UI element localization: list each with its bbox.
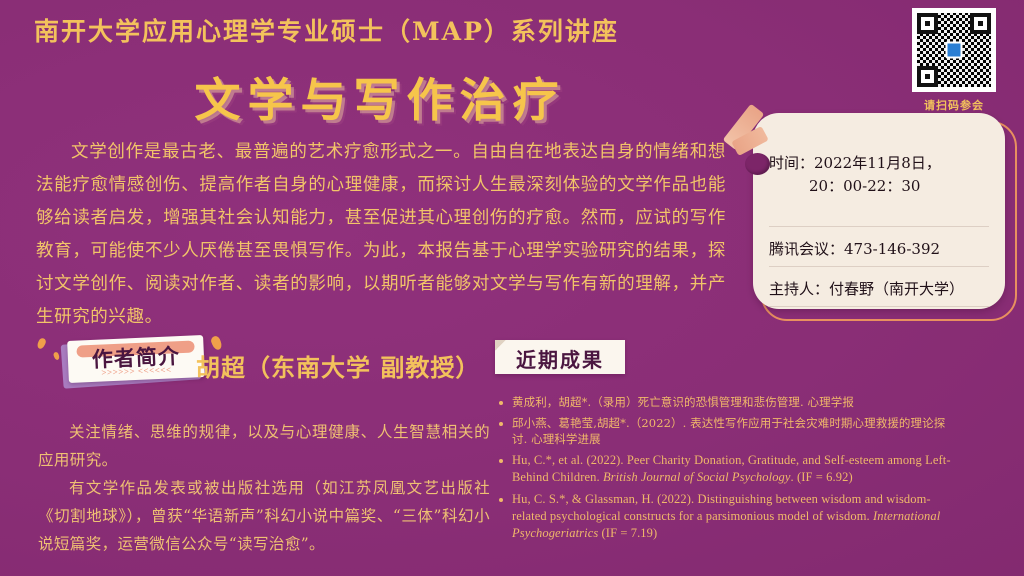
poster-canvas: 南开大学应用心理学专业硕士（MAP）系列讲座 文学与写作治疗 请扫码参会 文学创…: [0, 0, 1024, 576]
qr-finder-top-left-icon: [917, 13, 938, 34]
author-badge: 作者简介 >>>>>> <<<<<<: [67, 335, 205, 383]
results-badge-label: 近期成果: [495, 344, 625, 373]
author-bio: 关注情绪、思维的规律，以及与心理健康、人生智慧相关的应用研究。 有文学作品发表或…: [38, 418, 490, 558]
publication-item: Hu, C.*, et al. (2022). Peer Charity Don…: [498, 452, 958, 486]
info-card: 时间：2022年11月8日， 20：00-22：30 腾讯会议：473-146-…: [753, 113, 1005, 309]
qr-center-logo-icon: [946, 42, 963, 59]
info-row-meeting: 腾讯会议：473-146-392: [769, 238, 989, 267]
bio-paragraph: 关注情绪、思维的规律，以及与心理健康、人生智慧相关的应用研究。: [38, 418, 490, 474]
publication-item: Hu, C. S.*, & Glassman, H. (2022). Disti…: [498, 491, 958, 542]
page-title: 文学与写作治疗: [0, 64, 760, 130]
publication-item: 黄成利，胡超*.（录用）死亡意识的恐惧管理和悲伤管理. 心理学报: [498, 394, 958, 410]
info-row-time: 时间：2022年11月8日， 20：00-22：30: [769, 129, 989, 227]
sparkle-icon: [53, 351, 60, 360]
publication-list: 黄成利，胡超*.（录用）死亡意识的恐惧管理和悲伤管理. 心理学报邱小燕、葛艳莹,…: [498, 394, 958, 547]
journal-name: British Journal of Social Psychology: [603, 470, 791, 484]
bio-paragraph: 有文学作品发表或被出版社选用（如江苏凤凰文艺出版社《切割地球》），曾获“华语新声…: [38, 474, 490, 558]
series-title: 南开大学应用心理学专业硕士（MAP）系列讲座: [34, 12, 694, 48]
info-row-host: 主持人：付春野（南开大学）: [769, 278, 989, 307]
speaker-name: 胡超（东南大学 副教授）: [196, 348, 480, 383]
sparkle-icon: [36, 337, 47, 350]
abstract-text: 文学创作是最古老、最普遍的艺术疗愈形式之一。自由自在地表达自身的情绪和想法能疗愈…: [36, 136, 726, 334]
results-badge: 近期成果: [495, 340, 625, 374]
qr-finder-bottom-left-icon: [917, 66, 938, 87]
qr-block: 请扫码参会: [904, 8, 1004, 113]
qr-code-icon[interactable]: [912, 8, 996, 92]
qr-finder-top-right-icon: [970, 13, 991, 34]
info-time-line1: 时间：2022年11月8日，: [769, 154, 941, 172]
qr-caption: 请扫码参会: [904, 97, 1004, 113]
publication-item: 邱小燕、葛艳莹,胡超*.（2022）. 表达性写作应用于社会灾难时期心理救援的理…: [498, 415, 958, 447]
info-time-line2: 20：00-22：30: [769, 175, 989, 198]
pin-head-icon: [745, 153, 770, 175]
